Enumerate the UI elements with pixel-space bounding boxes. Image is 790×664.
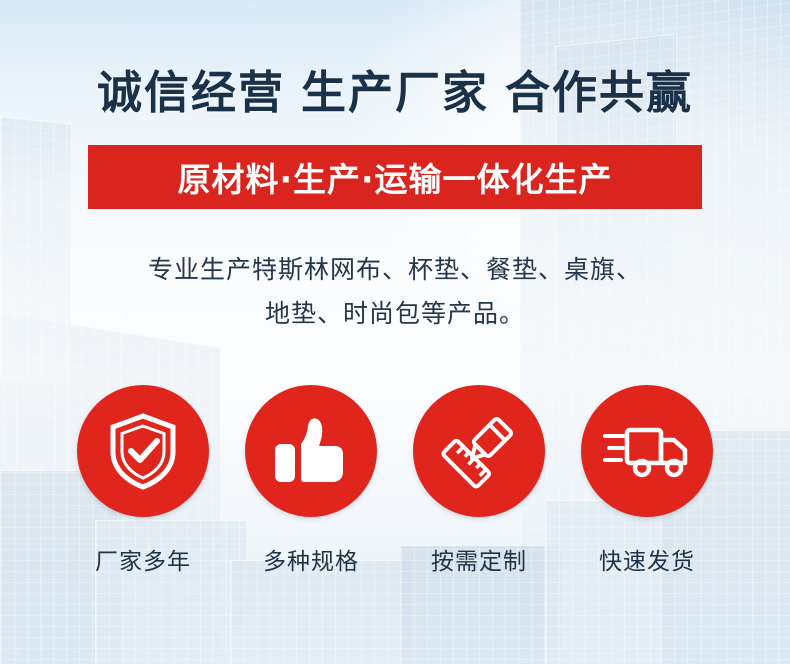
feature-icon-circle <box>77 385 209 517</box>
feature-item-quality: 厂家多年 <box>77 385 209 576</box>
thumbs-up-icon <box>271 414 351 488</box>
feature-label: 快速发货 <box>581 542 713 576</box>
promo-poster: 诚信经营生产厂家合作共赢 原材料·生产·运输一体化生产 专业生产特斯林网布、杯垫… <box>0 0 790 664</box>
headline: 诚信经营生产厂家合作共赢 <box>0 56 790 121</box>
poster-content: 诚信经营生产厂家合作共赢 原材料·生产·运输一体化生产 专业生产特斯林网布、杯垫… <box>0 0 790 664</box>
feature-icon-circle <box>245 385 377 517</box>
headline-part-1: 诚信经营 <box>97 66 285 119</box>
headline-part-2: 生产厂家 <box>301 66 489 119</box>
feature-item-specs: 多种规格 <box>245 385 377 576</box>
subtitle-line-2: 地垫、时尚包等产品。 <box>0 292 790 336</box>
shield-check-icon <box>107 412 179 490</box>
feature-item-custom: 按需定制 <box>413 385 545 576</box>
feature-label: 厂家多年 <box>77 542 209 576</box>
feature-icon-circle <box>581 385 713 517</box>
red-banner: 原材料·生产·运输一体化生产 <box>88 145 702 209</box>
subtitle-line-1: 专业生产特斯林网布、杯垫、餐垫、桌旗、 <box>0 248 790 292</box>
headline-part-3: 合作共赢 <box>505 66 693 119</box>
subtitle: 专业生产特斯林网布、杯垫、餐垫、桌旗、 地垫、时尚包等产品。 <box>0 248 790 336</box>
banner-text: 原材料·生产·运输一体化生产 <box>177 153 612 201</box>
feature-icon-circle <box>413 385 545 517</box>
ruler-pencil-icon <box>439 411 519 491</box>
delivery-truck-icon <box>603 420 691 482</box>
feature-list: 厂家多年 多种规格 <box>0 385 790 576</box>
feature-label: 按需定制 <box>413 542 545 576</box>
feature-item-shipping: 快速发货 <box>581 385 713 576</box>
feature-label: 多种规格 <box>245 542 377 576</box>
